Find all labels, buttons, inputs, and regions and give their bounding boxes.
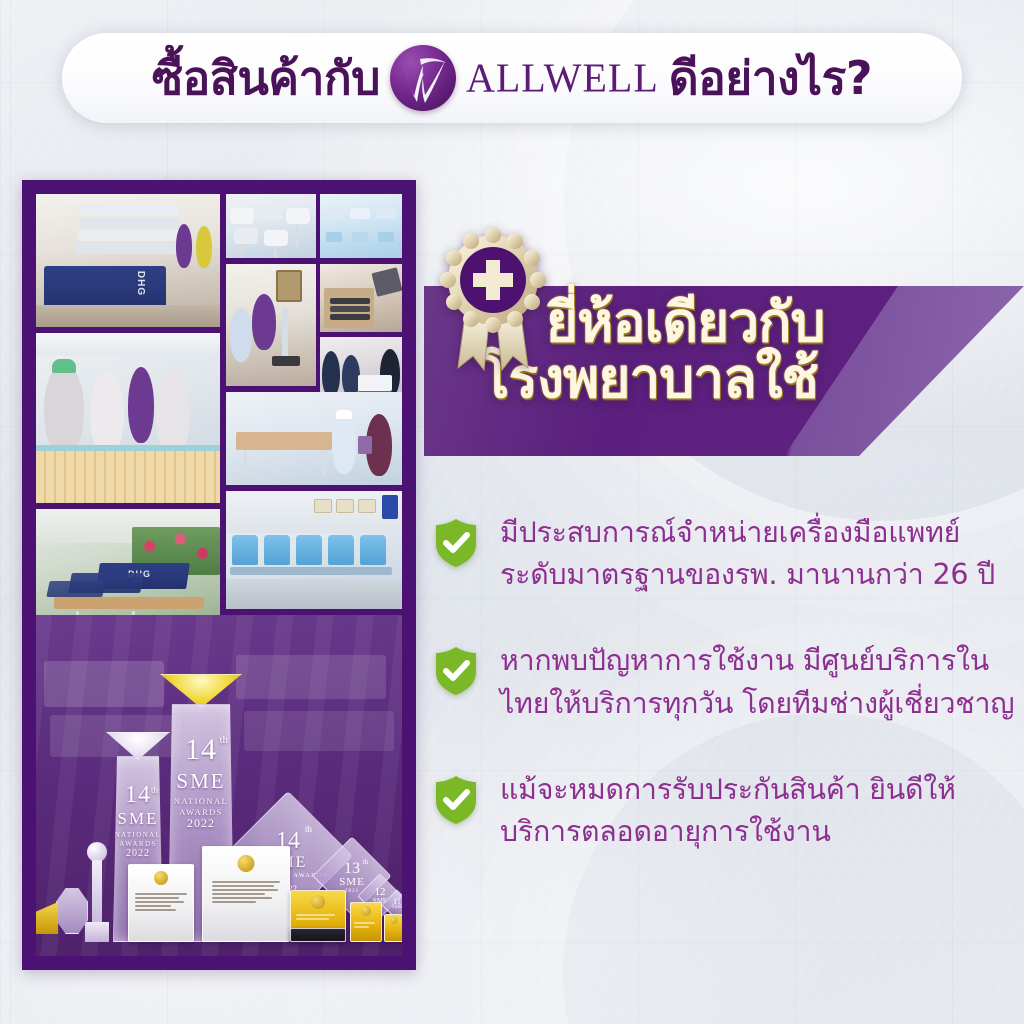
photo-blue-wheelchairs [226,491,402,609]
header-text-before: ซื้อสินค้ากับ [152,55,380,101]
benefit-line-2: ระดับมาตรฐานของรพ. มานานกว่า 26 ปี [500,554,995,596]
photo-mattress-delivery: DHG [36,194,220,327]
benefit-item: มีประสบการณ์จำหน่ายเครื่องมือแพทย์ ระดับ… [434,512,1024,596]
photo-staff-weighing-scale [226,264,316,386]
photo-awards-showcase: 14 th SME NATIONAL AWARDS 2022 14 [36,615,402,956]
header-pill: ซื้อสินค้ากับ ALLWELL ดีอย่างไร? [62,33,962,123]
allwell-w-logo-icon [390,45,456,111]
banner-headline: ยี่ห้อเดียวกับ โรงพยาบาลใช้ [480,294,1004,406]
green-shield-check-icon [434,775,478,825]
banner-line-2: โรงพยาบาลใช้ [480,350,1004,406]
poster-canvas: ซื้อสินค้ากับ ALLWELL ดีอย่างไร? DHG [0,0,1024,1024]
benefit-line-1: มีประสบการณ์จำหน่ายเครื่องมือแพทย์ [500,512,995,554]
photo-nurses-inspecting-bed [36,333,220,503]
benefit-line-2: ไทยให้บริการทุกวัน โดยทีมช่างผู้เชี่ยวชา… [500,683,1014,725]
benefit-text: มีประสบการณ์จำหน่ายเครื่องมือแพทย์ ระดับ… [500,512,995,596]
header-text-after: ดีอย่างไร? [669,55,872,101]
benefit-item: หากพบปัญหาการใช้งาน มีศูนย์บริการใน ไทยใ… [434,640,1024,724]
photo-unboxing-parts [320,264,402,332]
benefit-line-1: หากพบปัญหาการใช้งาน มีศูนย์บริการใน [500,640,1014,682]
allwell-wordmark: ALLWELL [466,57,659,99]
benefit-text: หากพบปัญหาการใช้งาน มีศูนย์บริการใน ไทยใ… [500,640,1014,724]
medical-cross-rosette-badge-icon [436,228,550,388]
green-shield-check-icon [434,646,478,696]
benefit-item: แม้จะหมดการรับประกันสินค้า ยินดีให้ บริก… [434,769,1024,853]
benefit-line-1: แม้จะหมดการรับประกันสินค้า ยินดีให้ [500,769,956,811]
benefits-list: มีประสบการณ์จำหน่ายเครื่องมือแพทย์ ระดับ… [434,512,1024,897]
benefit-line-2: บริการตลอดอายุการใช้งาน [500,811,956,853]
photo-equipment-carts [226,194,316,258]
banner-line-1: ยี่ห้อเดียวกับ [480,294,1004,350]
green-shield-check-icon [434,518,478,568]
benefit-text: แม้จะหมดการรับประกันสินค้า ยินดีให้ บริก… [500,769,956,853]
photo-nurse-with-patient [226,392,402,485]
photo-wall-mounted-units [320,194,402,258]
photo-collage-frame: DHG [22,180,416,970]
